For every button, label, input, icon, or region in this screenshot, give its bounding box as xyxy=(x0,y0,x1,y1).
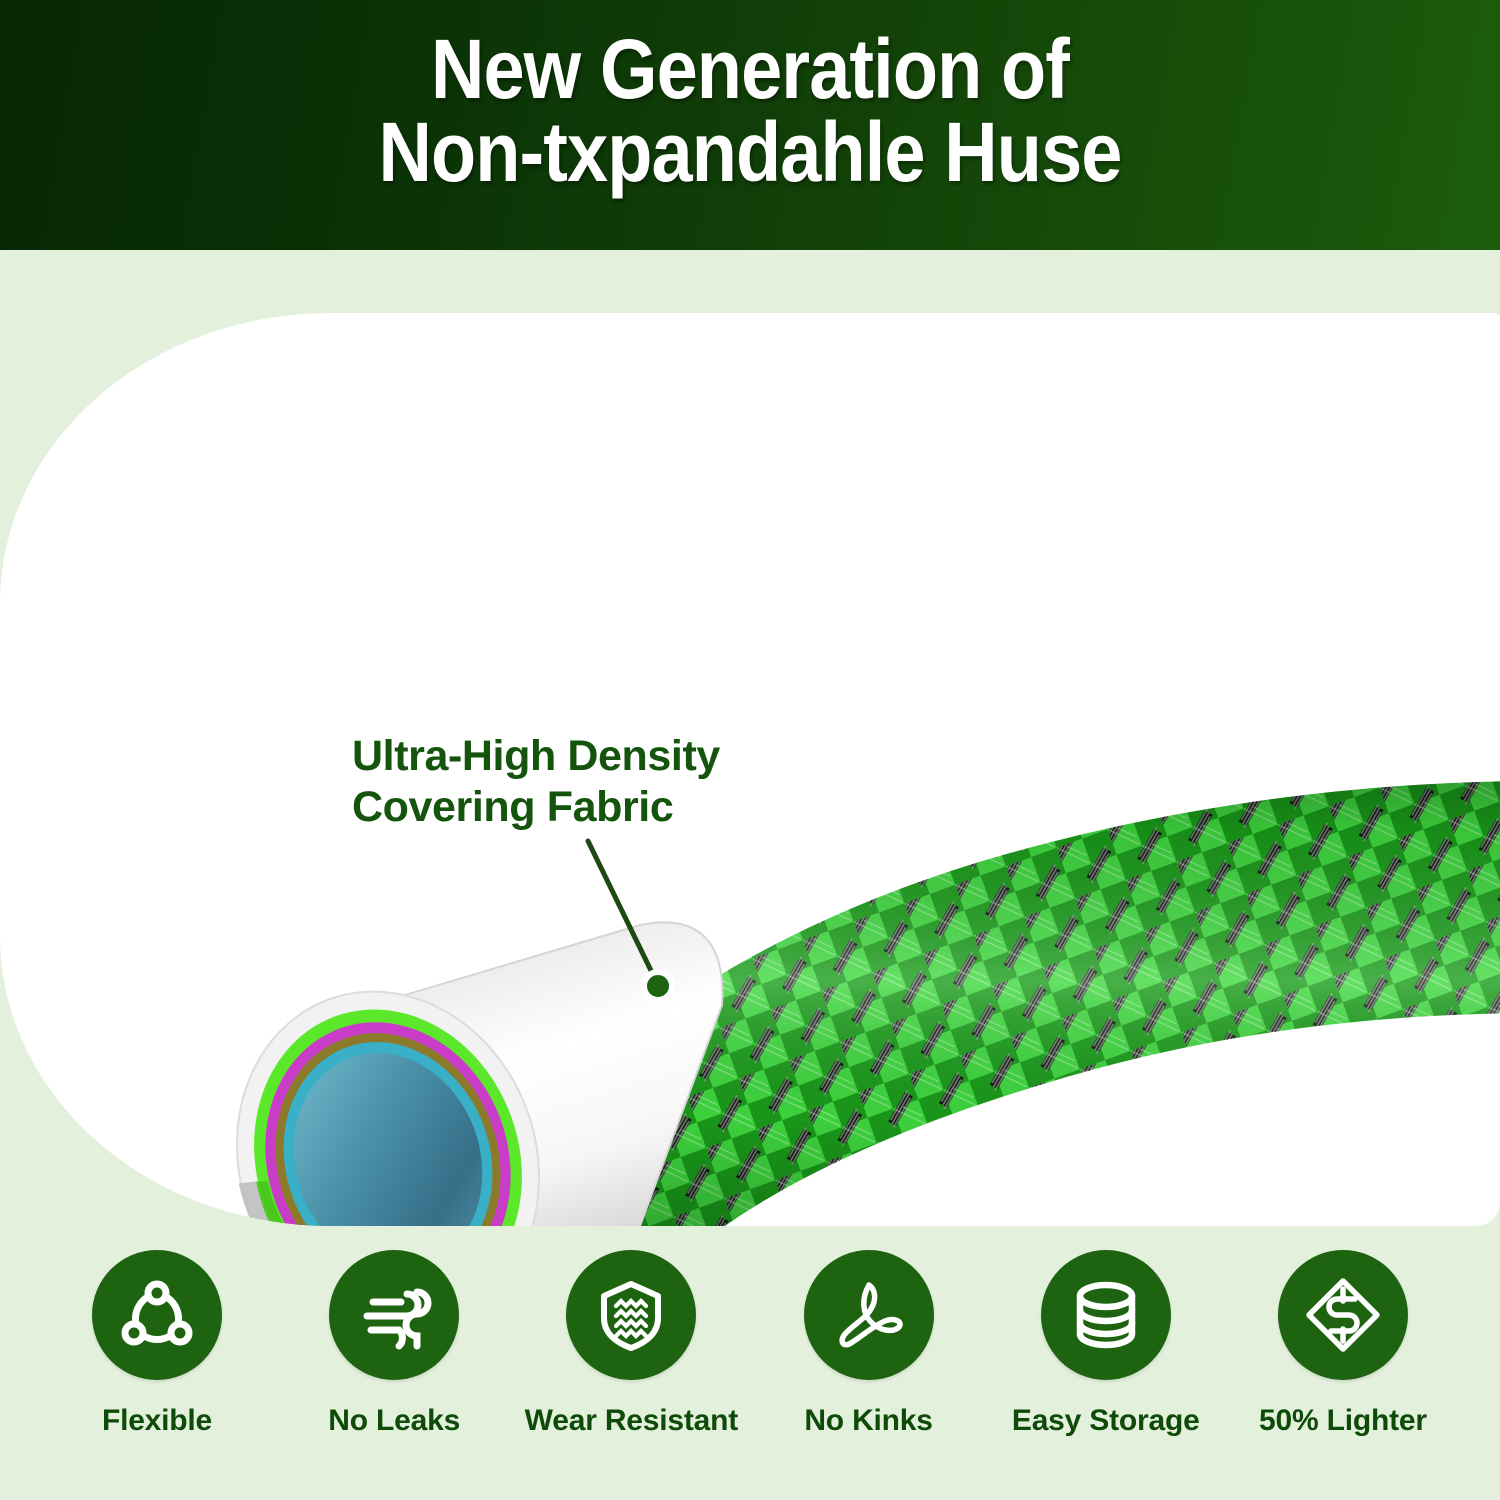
feature-item-no-kinks[interactable]: No Kinks xyxy=(774,1250,964,1500)
trefoil-loop-icon xyxy=(829,1275,909,1355)
feature-icon-circle xyxy=(804,1250,934,1380)
feature-icon-circle xyxy=(329,1250,459,1380)
wind-lines-icon xyxy=(355,1276,433,1354)
feature-icon-circle xyxy=(92,1250,222,1380)
flex-nodes-icon xyxy=(118,1276,196,1354)
feature-item-50-lighter[interactable]: 50% Lighter xyxy=(1248,1250,1438,1500)
hose-illustration xyxy=(0,313,1500,1226)
product-card: Ultra-High Density Covering Fabric 5-Lay… xyxy=(0,313,1500,1226)
feature-label: Wear Resistant xyxy=(525,1404,738,1438)
hose-svg xyxy=(0,313,1500,1226)
feature-label: No Kinks xyxy=(804,1404,932,1438)
feature-icon-circle xyxy=(1041,1250,1171,1380)
feature-label: Easy Storage xyxy=(1012,1404,1200,1438)
page-title: New Generation of Non-txpandahle Huse xyxy=(90,28,1410,194)
header-banner: New Generation of Non-txpandahle Huse xyxy=(0,0,1500,250)
feature-item-wear-resistant[interactable]: Wear Resistant xyxy=(536,1250,726,1500)
callout-dot-covering-fabric xyxy=(641,969,675,1003)
shield-waves-icon xyxy=(592,1276,670,1354)
feature-strip: Flexible No Leaks xyxy=(0,1250,1500,1500)
feature-item-easy-storage[interactable]: Easy Storage xyxy=(1011,1250,1201,1500)
stacked-discs-icon xyxy=(1067,1276,1145,1354)
feature-icon-circle xyxy=(1278,1250,1408,1380)
diamond-s-icon xyxy=(1303,1275,1383,1355)
feature-label: No Leaks xyxy=(328,1404,460,1438)
feature-label: Flexible xyxy=(102,1404,212,1438)
infographic-page: New Generation of Non-txpandahle Huse xyxy=(0,0,1500,1500)
feature-item-flexible[interactable]: Flexible xyxy=(62,1250,252,1500)
callout-label-covering-fabric: Ultra-High Density Covering Fabric xyxy=(352,731,720,832)
feature-label: 50% Lighter xyxy=(1259,1404,1427,1438)
feature-icon-circle xyxy=(566,1250,696,1380)
feature-item-no-leaks[interactable]: No Leaks xyxy=(299,1250,489,1500)
